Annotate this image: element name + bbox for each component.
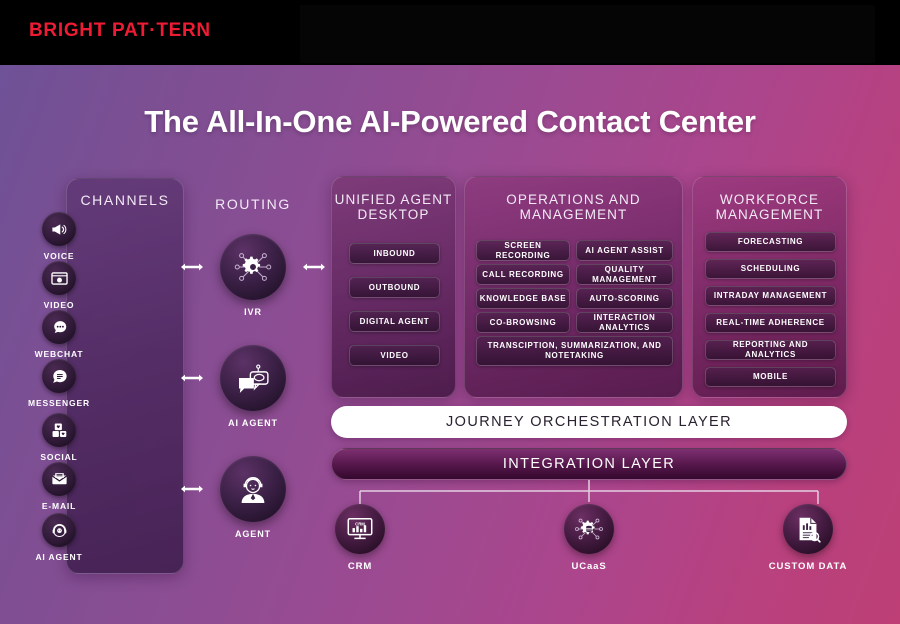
routing-label: IVR <box>194 307 312 317</box>
channel-item-social[interactable]: SOCIAL <box>0 413 118 462</box>
ucaas-gear-network-icon <box>564 504 614 554</box>
uad-chip-video[interactable]: VIDEO <box>349 345 440 366</box>
wfm-chip-mobile[interactable]: MOBILE <box>705 367 836 387</box>
headset-bot-icon <box>42 513 76 547</box>
unified-agent-desktop-panel: UNIFIED AGENT DESKTOP INBOUND OUTBOUND D… <box>331 176 456 398</box>
uad-chip-digital-agent[interactable]: DIGITAL AGENT <box>349 311 440 332</box>
agent-person-icon <box>220 456 286 522</box>
channel-label: E-MAIL <box>0 501 118 511</box>
brand-logo: BRIGHT PAT·TERN <box>29 20 211 42</box>
channel-item-video[interactable]: VIDEO <box>0 261 118 310</box>
wfm-chip-reporting-analytics[interactable]: REPORTING AND ANALYTICS <box>705 340 836 360</box>
operations-management-title: OPERATIONS AND MANAGEMENT <box>465 192 682 222</box>
channel-item-messenger[interactable]: MESSENGER <box>0 359 118 408</box>
channel-label: AI AGENT <box>0 552 118 562</box>
wfm-chip-intraday-management[interactable]: INTRADAY MANAGEMENT <box>705 286 836 306</box>
ops-chip-interaction-analytics[interactable]: INTERACTION ANALYTICS <box>576 312 673 333</box>
megaphone-icon <box>42 212 76 246</box>
integration-item-crm[interactable]: CRM CRM <box>305 504 415 572</box>
custom-data-document-icon <box>783 504 833 554</box>
ops-chip-co-browsing[interactable]: CO-BROWSING <box>476 312 570 333</box>
crm-monitor-icon: CRM <box>335 504 385 554</box>
video-window-icon <box>42 261 76 295</box>
routing-title: ROUTING <box>194 196 312 212</box>
bot-chat-icon <box>220 345 286 411</box>
channel-item-email[interactable]: E-MAIL <box>0 462 118 511</box>
integration-layer-bar[interactable]: INTEGRATION LAYER <box>331 448 847 480</box>
chat-bubble-dots-icon <box>42 310 76 344</box>
channel-label: VIDEO <box>0 300 118 310</box>
social-hearts-icon <box>42 413 76 447</box>
gear-network-icon <box>220 234 286 300</box>
routing-item-agent[interactable]: AGENT <box>194 456 312 539</box>
page-title: The All-In-One AI-Powered Contact Center <box>0 104 900 140</box>
unified-agent-desktop-title: UNIFIED AGENT DESKTOP <box>332 192 455 222</box>
ops-chip-ai-agent-assist[interactable]: AI AGENT ASSIST <box>576 240 673 261</box>
channel-label: MESSENGER <box>0 398 118 408</box>
channels-title: CHANNELS <box>67 193 183 208</box>
routing-label: AI AGENT <box>194 418 312 428</box>
operations-management-panel: OPERATIONS AND MANAGEMENT SCREEN RECORDI… <box>464 176 683 398</box>
envelope-icon <box>42 462 76 496</box>
integration-item-ucaas[interactable]: UCaaS <box>534 504 644 572</box>
ops-chip-transcription[interactable]: TRANSCIPTION, SUMMARIZATION, AND NOTETAK… <box>476 336 673 366</box>
wfm-chip-real-time-adherence[interactable]: REAL-TIME ADHERENCE <box>705 313 836 333</box>
ops-chip-knowledge-base[interactable]: KNOWLEDGE BASE <box>476 288 570 309</box>
routing-label: AGENT <box>194 529 312 539</box>
channel-label: WEBCHAT <box>0 349 118 359</box>
top-black-bar: BRIGHT PAT·TERN <box>0 0 900 65</box>
integration-label: CRM <box>305 561 415 572</box>
channel-item-ai-agent[interactable]: AI AGENT <box>0 513 118 562</box>
ops-chip-screen-recording[interactable]: SCREEN RECORDING <box>476 240 570 261</box>
ops-chip-quality-management[interactable]: QUALITY MANAGEMENT <box>576 264 673 285</box>
routing-item-ivr[interactable]: IVR <box>194 234 312 317</box>
ops-chip-call-recording[interactable]: CALL RECORDING <box>476 264 570 285</box>
channel-item-voice[interactable]: VOICE <box>0 212 118 261</box>
integration-label: CUSTOM DATA <box>753 561 863 572</box>
integration-item-custom-data[interactable]: CUSTOM DATA <box>753 504 863 572</box>
uad-chip-inbound[interactable]: INBOUND <box>349 243 440 264</box>
wfm-chip-forecasting[interactable]: FORECASTING <box>705 232 836 252</box>
ops-chip-auto-scoring[interactable]: AUTO-SCORING <box>576 288 673 309</box>
journey-orchestration-layer-bar[interactable]: JOURNEY ORCHESTRATION LAYER <box>331 406 847 438</box>
routing-item-ai-agent[interactable]: AI AGENT <box>194 345 312 428</box>
workforce-management-panel: WORKFORCE MANAGEMENT FORECASTING SCHEDUL… <box>692 176 847 398</box>
workforce-management-title: WORKFORCE MANAGEMENT <box>693 192 846 222</box>
integration-label: UCaaS <box>534 561 644 572</box>
messenger-bubble-icon <box>42 359 76 393</box>
uad-chip-outbound[interactable]: OUTBOUND <box>349 277 440 298</box>
channel-label: SOCIAL <box>0 452 118 462</box>
channel-item-webchat[interactable]: WEBCHAT <box>0 310 118 359</box>
infographic-page: BRIGHT PAT·TERN The All-In-One AI-Powere… <box>0 0 900 624</box>
channel-label: VOICE <box>0 251 118 261</box>
topbar-inner-panel <box>300 5 875 63</box>
wfm-chip-scheduling[interactable]: SCHEDULING <box>705 259 836 279</box>
